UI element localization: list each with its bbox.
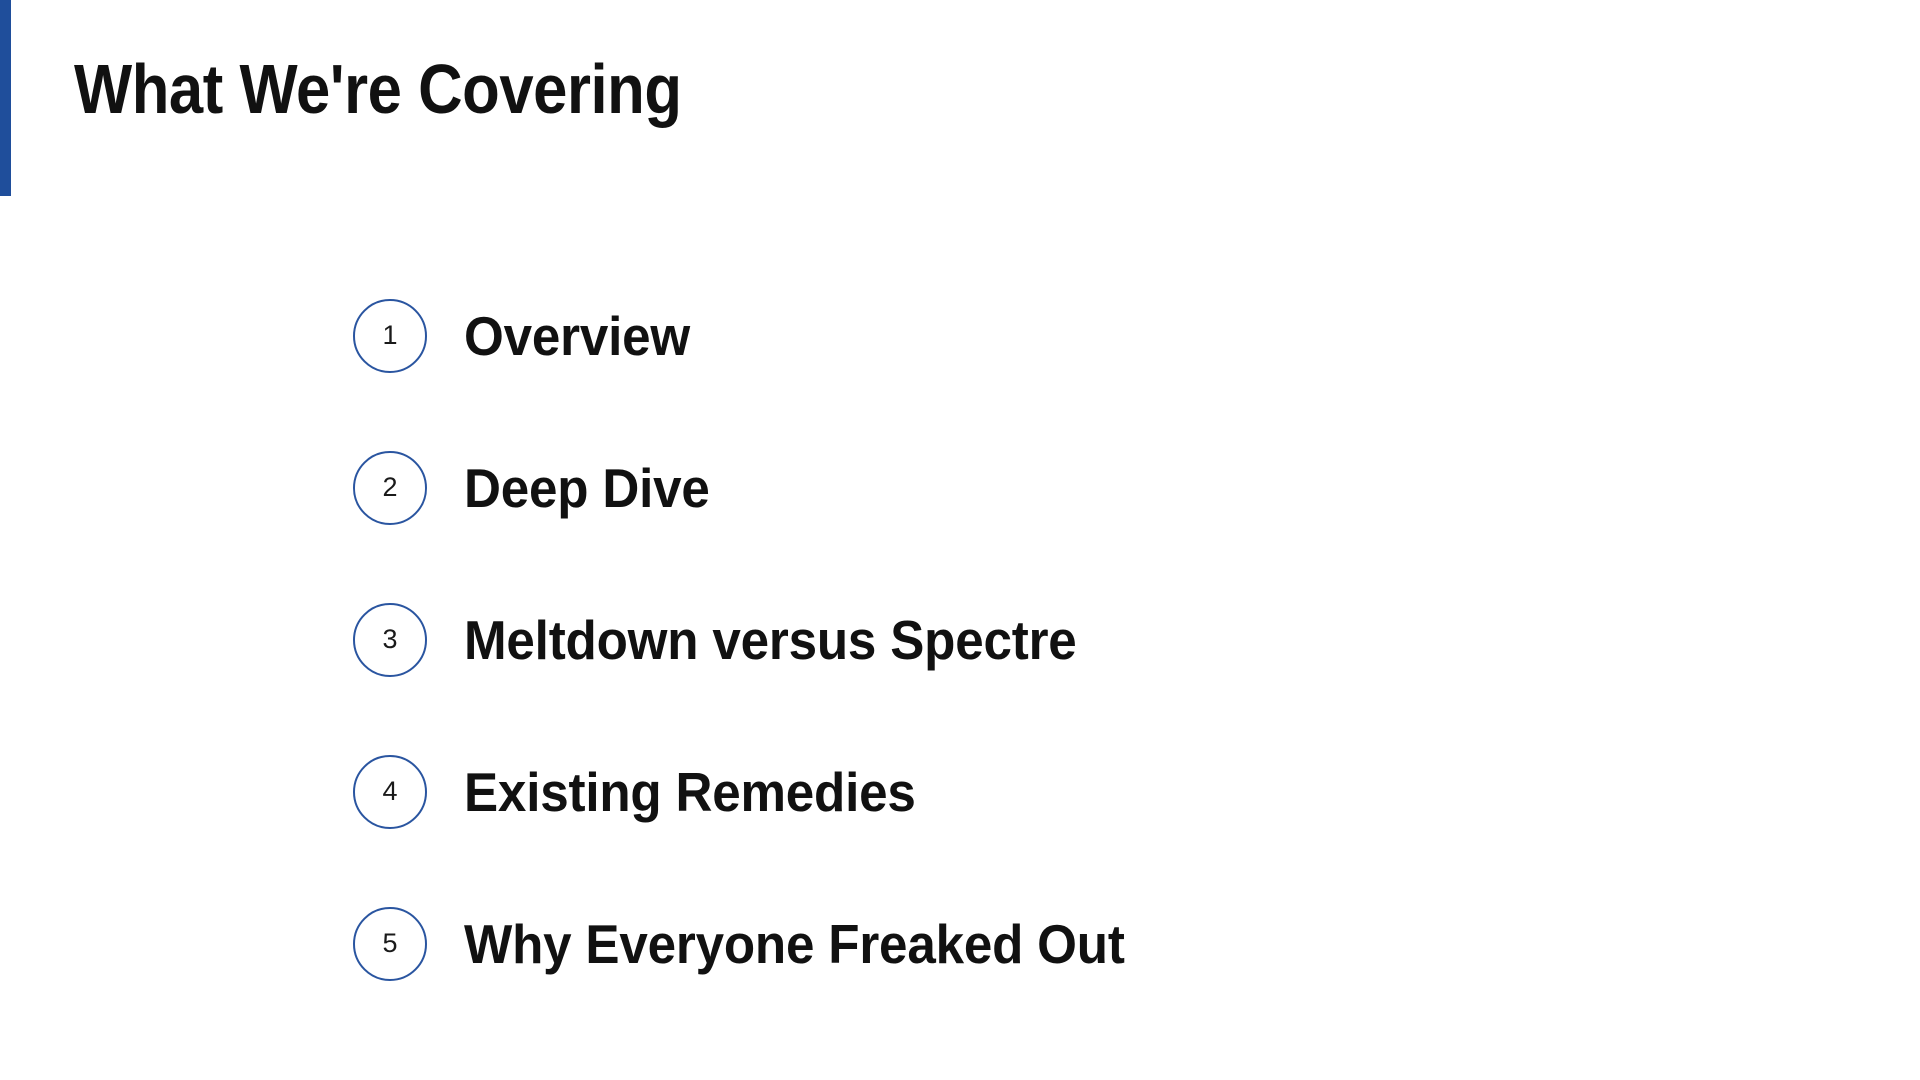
- agenda-item-label: Why Everyone Freaked Out: [464, 917, 1125, 972]
- number-circle-icon: 3: [353, 603, 427, 677]
- list-item[interactable]: 2 Deep Dive: [353, 449, 1803, 527]
- presentation-slide: What We're Covering 1 Overview 2 Deep Di…: [0, 0, 1920, 1080]
- agenda-item-number: 4: [382, 778, 397, 805]
- agenda-item-label: Deep Dive: [464, 461, 710, 516]
- agenda-item-label: Existing Remedies: [464, 765, 916, 820]
- number-circle-icon: 5: [353, 907, 427, 981]
- agenda-item-number: 3: [382, 626, 397, 653]
- agenda-item-number: 5: [382, 930, 397, 957]
- agenda-list: 1 Overview 2 Deep Dive 3 Meltdown versus…: [353, 297, 1803, 983]
- list-item[interactable]: 1 Overview: [353, 297, 1803, 375]
- number-circle-icon: 4: [353, 755, 427, 829]
- list-item[interactable]: 3 Meltdown versus Spectre: [353, 601, 1803, 679]
- agenda-item-number: 1: [382, 322, 397, 349]
- title-block: What We're Covering: [74, 54, 1774, 124]
- title-accent-bar: [0, 0, 11, 196]
- number-circle-icon: 2: [353, 451, 427, 525]
- agenda-item-number: 2: [382, 474, 397, 501]
- number-circle-icon: 1: [353, 299, 427, 373]
- agenda-item-label: Meltdown versus Spectre: [464, 613, 1077, 668]
- list-item[interactable]: 4 Existing Remedies: [353, 753, 1803, 831]
- page-title: What We're Covering: [74, 54, 1570, 124]
- agenda-item-label: Overview: [464, 309, 690, 364]
- list-item[interactable]: 5 Why Everyone Freaked Out: [353, 905, 1803, 983]
